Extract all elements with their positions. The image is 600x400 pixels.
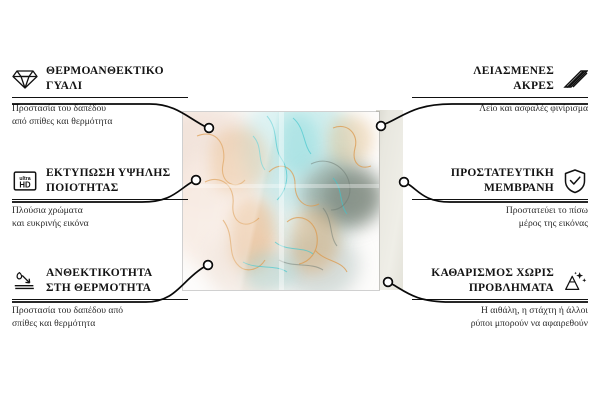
ultra-hd-badge-icon: ultra HD (12, 168, 38, 194)
feature-header: ΛΕΙΑΣΜΕΝΕΣ ΑΚΡΕΣ (412, 64, 588, 93)
feature-divider (12, 97, 188, 98)
product-back-panel (376, 110, 403, 290)
feature-header: ΚΑΘΑΡΙΣΜΟΣ ΧΩΡΙΣ ΠΡΟΒΛΗΜΑΤΑ (412, 266, 588, 295)
feature-divider (12, 199, 188, 200)
feature-description: Προστασία του δαπέδου από σπίθες και θερ… (12, 103, 188, 129)
feature-polished-edges[interactable]: ΛΕΙΑΣΜΕΝΕΣ ΑΚΡΕΣ Λείο και ασφαλές φινίρι… (412, 64, 588, 116)
product-image (183, 112, 403, 290)
feature-description: Λείο και ασφαλές φινίρισμα (412, 103, 588, 116)
diamond-icon (12, 66, 38, 92)
feature-heat-resistant-glass[interactable]: ΘΕΡΜΟΑΝΘΕΚΤΙΚΟ ΓΥΑΛΙ Προστασία του δαπέδ… (12, 64, 188, 129)
feature-divider (412, 199, 588, 200)
flame-heat-resistance-icon (12, 268, 38, 294)
feature-title: ΠΡΟΣΤΑΤΕΥΤΙΚΗ ΜΕΜΒΡΑΝΗ (451, 166, 554, 195)
feature-high-quality-print[interactable]: ultra HD ΕΚΤΥΠΩΣΗ ΥΨΗΛΗΣ ΠΟΙΟΤΗΤΑΣ Πλούσ… (12, 166, 188, 231)
feature-header: ΑΝΘΕΚΤΙΚΟΤΗΤΑ ΣΤΗ ΘΕΡΜΟΤΗΤΑ (12, 266, 188, 295)
feature-header: ultra HD ΕΚΤΥΠΩΣΗ ΥΨΗΛΗΣ ΠΟΙΟΤΗΤΑΣ (12, 166, 188, 195)
infographic-canvas: ΘΕΡΜΟΑΝΘΕΚΤΙΚΟ ΓΥΑΛΙ Προστασία του δαπέδ… (0, 0, 600, 400)
diagonal-lines-icon (562, 66, 588, 92)
feature-divider (12, 299, 188, 300)
svg-text:HD: HD (19, 180, 31, 189)
feature-title: ΕΚΤΥΠΩΣΗ ΥΨΗΛΗΣ ΠΟΙΟΤΗΤΑΣ (46, 166, 170, 195)
feature-title: ΘΕΡΜΟΑΝΘΕΚΤΙΚΟ ΓΥΑΛΙ (46, 64, 164, 93)
feature-title: ΑΝΘΕΚΤΙΚΟΤΗΤΑ ΣΤΗ ΘΕΡΜΟΤΗΤΑ (46, 266, 152, 295)
feature-divider (412, 299, 588, 300)
feature-protective-membrane[interactable]: ΠΡΟΣΤΑΤΕΥΤΙΚΗ ΜΕΜΒΡΑΝΗ Προστατεύει το πί… (412, 166, 588, 231)
marble-veins (183, 112, 379, 290)
feature-heat-durability[interactable]: ΑΝΘΕΚΤΙΚΟΤΗΤΑ ΣΤΗ ΘΕΡΜΟΤΗΤΑ Προστασία το… (12, 266, 188, 331)
feature-header: ΘΕΡΜΟΑΝΘΕΚΤΙΚΟ ΓΥΑΛΙ (12, 64, 188, 93)
feature-title: ΚΑΘΑΡΙΣΜΟΣ ΧΩΡΙΣ ΠΡΟΒΛΗΜΑΤΑ (431, 266, 554, 295)
feature-description: Προστατεύει το πίσω μέρος της εικόνας (412, 205, 588, 231)
shield-check-icon (562, 168, 588, 194)
feature-divider (412, 97, 588, 98)
feature-description: Πλούσια χρώματα και ευκρινής εικόνα (12, 205, 188, 231)
feature-description: Προστασία του δαπέδου από σπίθες και θερ… (12, 305, 188, 331)
feature-description: Η αιθάλη, η στάχτη ή άλλοι ρύποι μπορούν… (412, 305, 588, 331)
feature-title: ΛΕΙΑΣΜΕΝΕΣ ΑΚΡΕΣ (473, 64, 554, 93)
feature-easy-cleaning[interactable]: ΚΑΘΑΡΙΣΜΟΣ ΧΩΡΙΣ ΠΡΟΒΛΗΜΑΤΑ Η αιθάλη, η … (412, 266, 588, 331)
product-glass-artwork (183, 112, 379, 290)
sparkle-clean-icon (562, 268, 588, 294)
feature-header: ΠΡΟΣΤΑΤΕΥΤΙΚΗ ΜΕΜΒΡΑΝΗ (412, 166, 588, 195)
